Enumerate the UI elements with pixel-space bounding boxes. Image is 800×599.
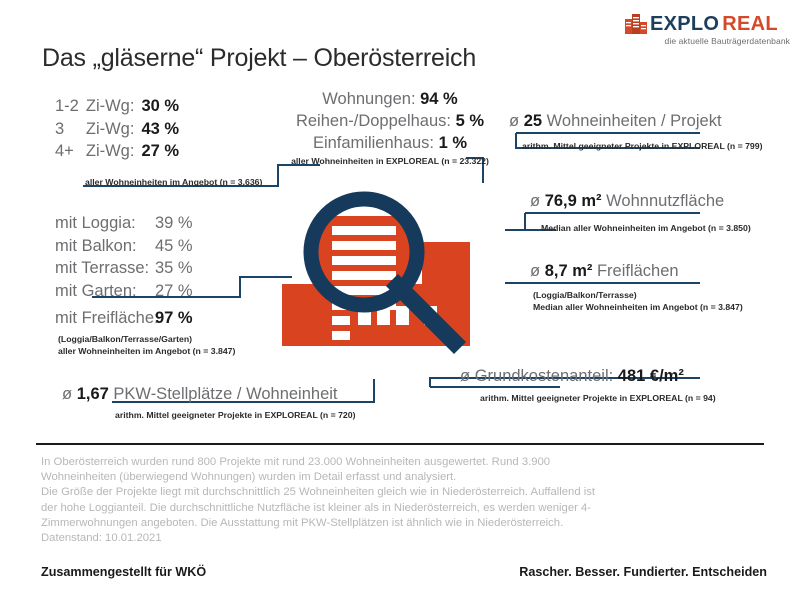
- features-total-label: mit Freifläche:: [55, 307, 155, 329]
- logo-text-real: REAL: [722, 14, 778, 34]
- type-value-0: 94 %: [420, 90, 458, 108]
- features-notes: (Loggia/Balkon/Terrasse/Garten) aller Wo…: [58, 333, 235, 357]
- open-value: 8,7 m²: [545, 262, 593, 280]
- rooms-unit-2: Zi-Wg:: [86, 140, 135, 163]
- parking-label: PKW-Stellplätze / Wohneinheit: [113, 385, 337, 403]
- units-value: 25: [524, 112, 542, 130]
- page-title: Das „gläserne“ Projekt – Oberösterreich: [42, 44, 476, 73]
- rooms-source-note: aller Wohneinheiten im Angebot (n = 3.63…: [85, 176, 262, 188]
- brand-logo: EXPLOREAL die aktuelle Bauträgerdatenban…: [625, 14, 790, 46]
- types-source-note: aller Wohneinheiten in EXPLOREAL (n = 23…: [262, 156, 518, 166]
- feature-value-2: 35 %: [155, 257, 193, 280]
- feature-label-3: mit Garten:: [55, 280, 155, 303]
- open-area-stat: ø 8,7 m² Freiflächen: [530, 260, 679, 282]
- feature-value-3: 27 %: [155, 280, 193, 303]
- units-per-project-stat: ø 25 Wohneinheiten / Projekt: [509, 110, 722, 132]
- summary-line-6: Datenstand: 10.01.2021: [41, 531, 771, 546]
- summary-line-5: Zimmerwohnungen angeboten. Die Ausstattu…: [41, 516, 771, 531]
- features-total-value: 97 %: [155, 307, 193, 329]
- rooms-label-1: 3: [55, 118, 79, 141]
- open-area-note-1: (Loggia/Balkon/Terrasse): [533, 289, 743, 301]
- rooms-unit-1: Zi-Wg:: [86, 118, 135, 141]
- type-line-0: Wohnungen: 94 %: [262, 88, 518, 110]
- area-label: Wohnnutzfläche: [606, 192, 724, 210]
- land-cost-source-note: arithm. Mittel geeigneter Projekte in EX…: [480, 392, 716, 404]
- type-line-2: Einfamilienhaus: 1 %: [262, 132, 518, 154]
- rooms-unit-0: Zi-Wg:: [86, 95, 135, 118]
- units-source-note: arithm. Mittel geeigneter Projekte in EX…: [522, 140, 763, 152]
- summary-line-3: Die Größe der Projekte liegt mit durchsc…: [41, 485, 771, 500]
- feature-value-0: 39 %: [155, 212, 193, 235]
- parking-value: 1,67: [77, 385, 109, 403]
- living-area-source-note: Median aller Wohneinheiten im Angebot (n…: [541, 222, 751, 234]
- infographic-canvas: EXPLOREAL die aktuelle Bauträgerdatenban…: [0, 0, 800, 599]
- open-prefix: ø: [530, 262, 540, 280]
- open-area-notes: (Loggia/Balkon/Terrasse) Median aller Wo…: [533, 289, 743, 313]
- land-cost-stat: ø Grundkostenanteil: 481 €/m²: [460, 365, 684, 387]
- rooms-value-0: 30 %: [141, 95, 179, 118]
- land-value: 481 €/m²: [618, 367, 684, 385]
- rooms-distribution-block: 1-2 Zi-Wg: 30 % 3 Zi-Wg: 43 % 4+ Zi-Wg: …: [55, 95, 179, 163]
- rooms-label-2: 4+: [55, 140, 79, 163]
- rooms-value-2: 27 %: [141, 140, 179, 163]
- summary-line-1: In Oberösterreich wurden rund 800 Projek…: [41, 455, 771, 470]
- type-value-1: 5 %: [456, 112, 484, 130]
- features-note-2: aller Wohneinheiten im Angebot (n = 3.84…: [58, 345, 235, 357]
- summary-paragraph: In Oberösterreich wurden rund 800 Projek…: [41, 455, 771, 546]
- type-label-0: Wohnungen:: [322, 90, 415, 108]
- summary-line-4: der hohe Loggianteil. Die durchschnittli…: [41, 501, 771, 516]
- feature-value-1: 45 %: [155, 235, 193, 258]
- type-label-1: Reihen-/Doppelhaus:: [296, 112, 451, 130]
- rooms-label-0: 1-2: [55, 95, 79, 118]
- units-label: Wohneinheiten / Projekt: [547, 112, 722, 130]
- land-label: Grundkostenanteil:: [475, 367, 614, 385]
- type-line-1: Reihen-/Doppelhaus: 5 %: [262, 110, 518, 132]
- feature-label-2: mit Terrasse:: [55, 257, 155, 280]
- open-area-note-2: Median aller Wohneinheiten im Angebot (n…: [533, 301, 743, 313]
- magnifier-building-graphic: [282, 168, 528, 364]
- feature-label-0: mit Loggia:: [55, 212, 155, 235]
- area-prefix: ø: [530, 192, 540, 210]
- logo-tagline: die aktuelle Bauträgerdatenbank: [625, 36, 790, 46]
- living-area-stat: ø 76,9 m² Wohnnutzfläche: [530, 190, 724, 212]
- land-prefix: ø: [460, 367, 470, 385]
- units-prefix: ø: [509, 112, 519, 130]
- features-total-row: mit Freifläche: 97 %: [55, 307, 193, 329]
- type-label-2: Einfamilienhaus:: [313, 134, 434, 152]
- horizontal-divider: [36, 443, 764, 445]
- features-block: mit Loggia: 39 % mit Balkon: 45 % mit Te…: [55, 212, 193, 302]
- dwelling-types-block: Wohnungen: 94 % Reihen-/Doppelhaus: 5 % …: [262, 88, 518, 166]
- footer-right-text: Rascher. Besser. Fundierter. Entscheiden: [519, 565, 767, 579]
- parking-stat: ø 1,67 PKW-Stellplätze / Wohneinheit: [62, 383, 338, 405]
- rooms-value-1: 43 %: [141, 118, 179, 141]
- footer-left-text: Zusammengestellt für WKÖ: [41, 565, 206, 579]
- feature-label-1: mit Balkon:: [55, 235, 155, 258]
- open-label: Freiflächen: [597, 262, 679, 280]
- area-value: 76,9 m²: [545, 192, 602, 210]
- summary-line-2: Wohneinheiten (überwiegend Wohnungen) wu…: [41, 470, 771, 485]
- parking-prefix: ø: [62, 385, 72, 403]
- parking-source-note: arithm. Mittel geeigneter Projekte in EX…: [115, 409, 356, 421]
- features-note-1: (Loggia/Balkon/Terrasse/Garten): [58, 333, 235, 345]
- logo-text-explo: EXPLO: [650, 14, 719, 34]
- type-value-2: 1 %: [439, 134, 467, 152]
- building-logo-icon: [625, 14, 647, 34]
